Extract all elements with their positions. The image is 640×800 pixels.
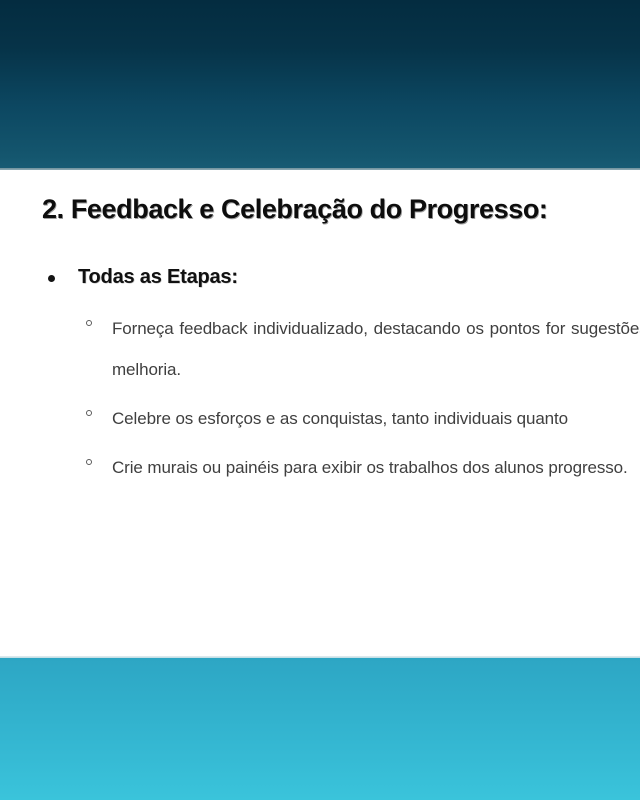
page-title: 2. Feedback e Celebração do Progresso: [42,194,640,225]
presentation-slide: 2. Feedback e Celebração do Progresso: T… [0,0,640,800]
list-item: Celebre os esforços e as conquistas, tan… [0,398,640,439]
list-item: Todas as Etapas: [0,266,640,292]
list-item-label: Forneça feedback individualizado, destac… [112,308,640,390]
list-item: Crie murais ou painéis para exibir os tr… [0,447,640,488]
list-item-label: Celebre os esforços e as conquistas, tan… [112,398,640,439]
hollow-ring-bullet-icon [86,459,92,465]
filled-disc-bullet-icon [48,275,55,282]
list-item-label: Todas as Etapas: [78,266,238,288]
bullet-list: Todas as Etapas: Forneça feedback indivi… [0,266,640,496]
list-item: Forneça feedback individualizado, destac… [0,308,640,390]
slide-footer-band [0,658,640,800]
slide-content-area: 2. Feedback e Celebração do Progresso: T… [0,170,640,658]
hollow-ring-bullet-icon [86,320,92,326]
hollow-ring-bullet-icon [86,410,92,416]
slide-header-band [0,0,640,170]
list-item-label: Crie murais ou painéis para exibir os tr… [112,447,640,488]
